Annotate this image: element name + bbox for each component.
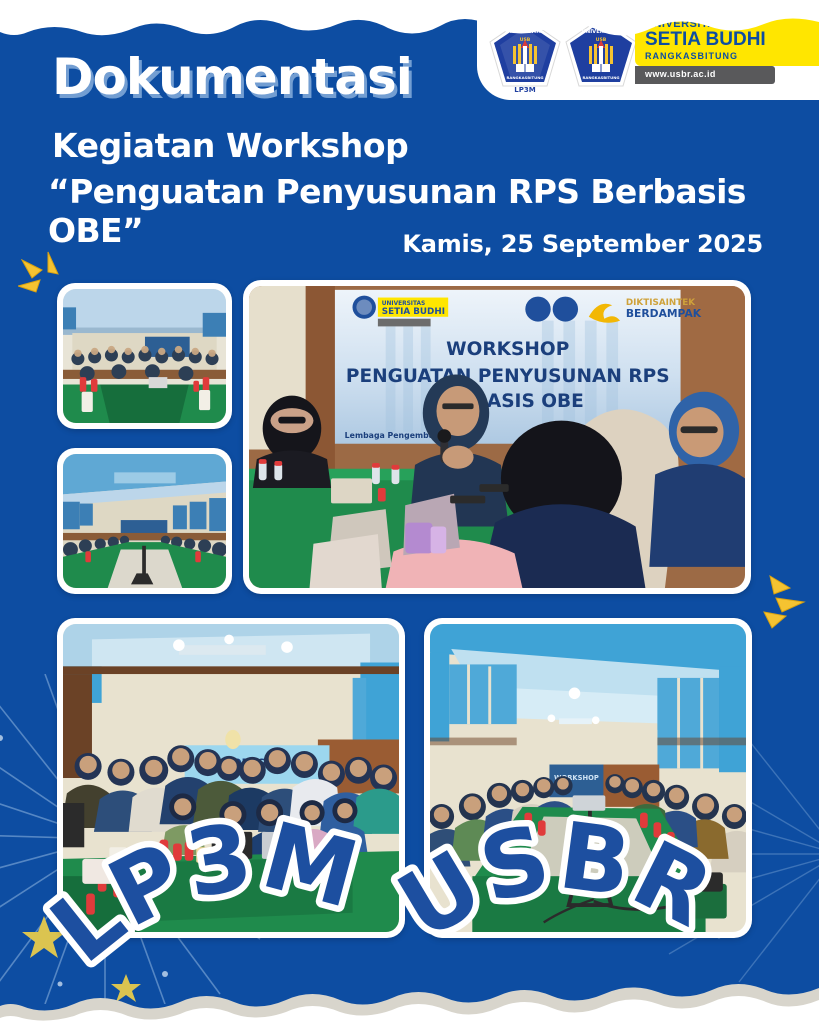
svg-text:RANGKASBITUNG: RANGKASBITUNG [506, 75, 543, 80]
svg-text:LP3M: LP3M [514, 86, 535, 94]
university-logo-block: UNIVERSITAS USB RANGKASBITUNG LP3M UNIVE… [463, 0, 819, 104]
svg-text:UNIVERSITAS: UNIVERSITAS [506, 29, 545, 35]
university-seal-icon: UNIVERSITAS USB RANGKASBITUNG [563, 16, 639, 96]
svg-text:BERDAMPAK: BERDAMPAK [626, 307, 702, 320]
brand-name-banner: UNIVERSITAS SETIA BUDHI RANGKASBITUNG [635, 16, 819, 66]
page-title: Dokumentasi [52, 48, 412, 106]
brand-website-text: www.usbr.ac.id [645, 69, 716, 79]
event-date: Kamis, 25 September 2025 [402, 230, 763, 258]
svg-text:WORKSHOP: WORKSHOP [446, 339, 569, 360]
university-seal-lp3m-icon: UNIVERSITAS USB RANGKASBITUNG LP3M [487, 16, 563, 96]
brand-line-3: RANGKASBITUNG [645, 51, 738, 61]
photo-top-left [57, 283, 232, 429]
svg-text:SETIA BUDHI: SETIA BUDHI [382, 307, 445, 317]
photo-bottom-right: WORKSHOP [424, 618, 752, 938]
photo-main: UNIVERSITAS SETIA BUDHI DIKTISAINTEK BER… [243, 280, 751, 594]
svg-text:RANGKASBITUNG: RANGKASBITUNG [582, 75, 619, 80]
sparkle-left-icon [18, 248, 70, 304]
photo-bottom-left: WORKSHOP [57, 618, 405, 938]
brand-line-2: SETIA BUDHI [645, 29, 766, 50]
brand-website-banner: www.usbr.ac.id [635, 66, 775, 84]
sparkle-right-icon [760, 572, 810, 630]
poster-canvas: UNIVERSITAS SETIA BUDHI DIKTISAINTEK BER… [0, 0, 819, 1024]
svg-text:UNIVERSITAS: UNIVERSITAS [582, 29, 621, 35]
subtitle-activity: Kegiatan Workshop [52, 126, 408, 165]
photo-mid-left [57, 448, 232, 594]
svg-text:PENGUATAN PENYUSUNAN RPS: PENGUATAN PENYUSUNAN RPS [346, 366, 670, 387]
